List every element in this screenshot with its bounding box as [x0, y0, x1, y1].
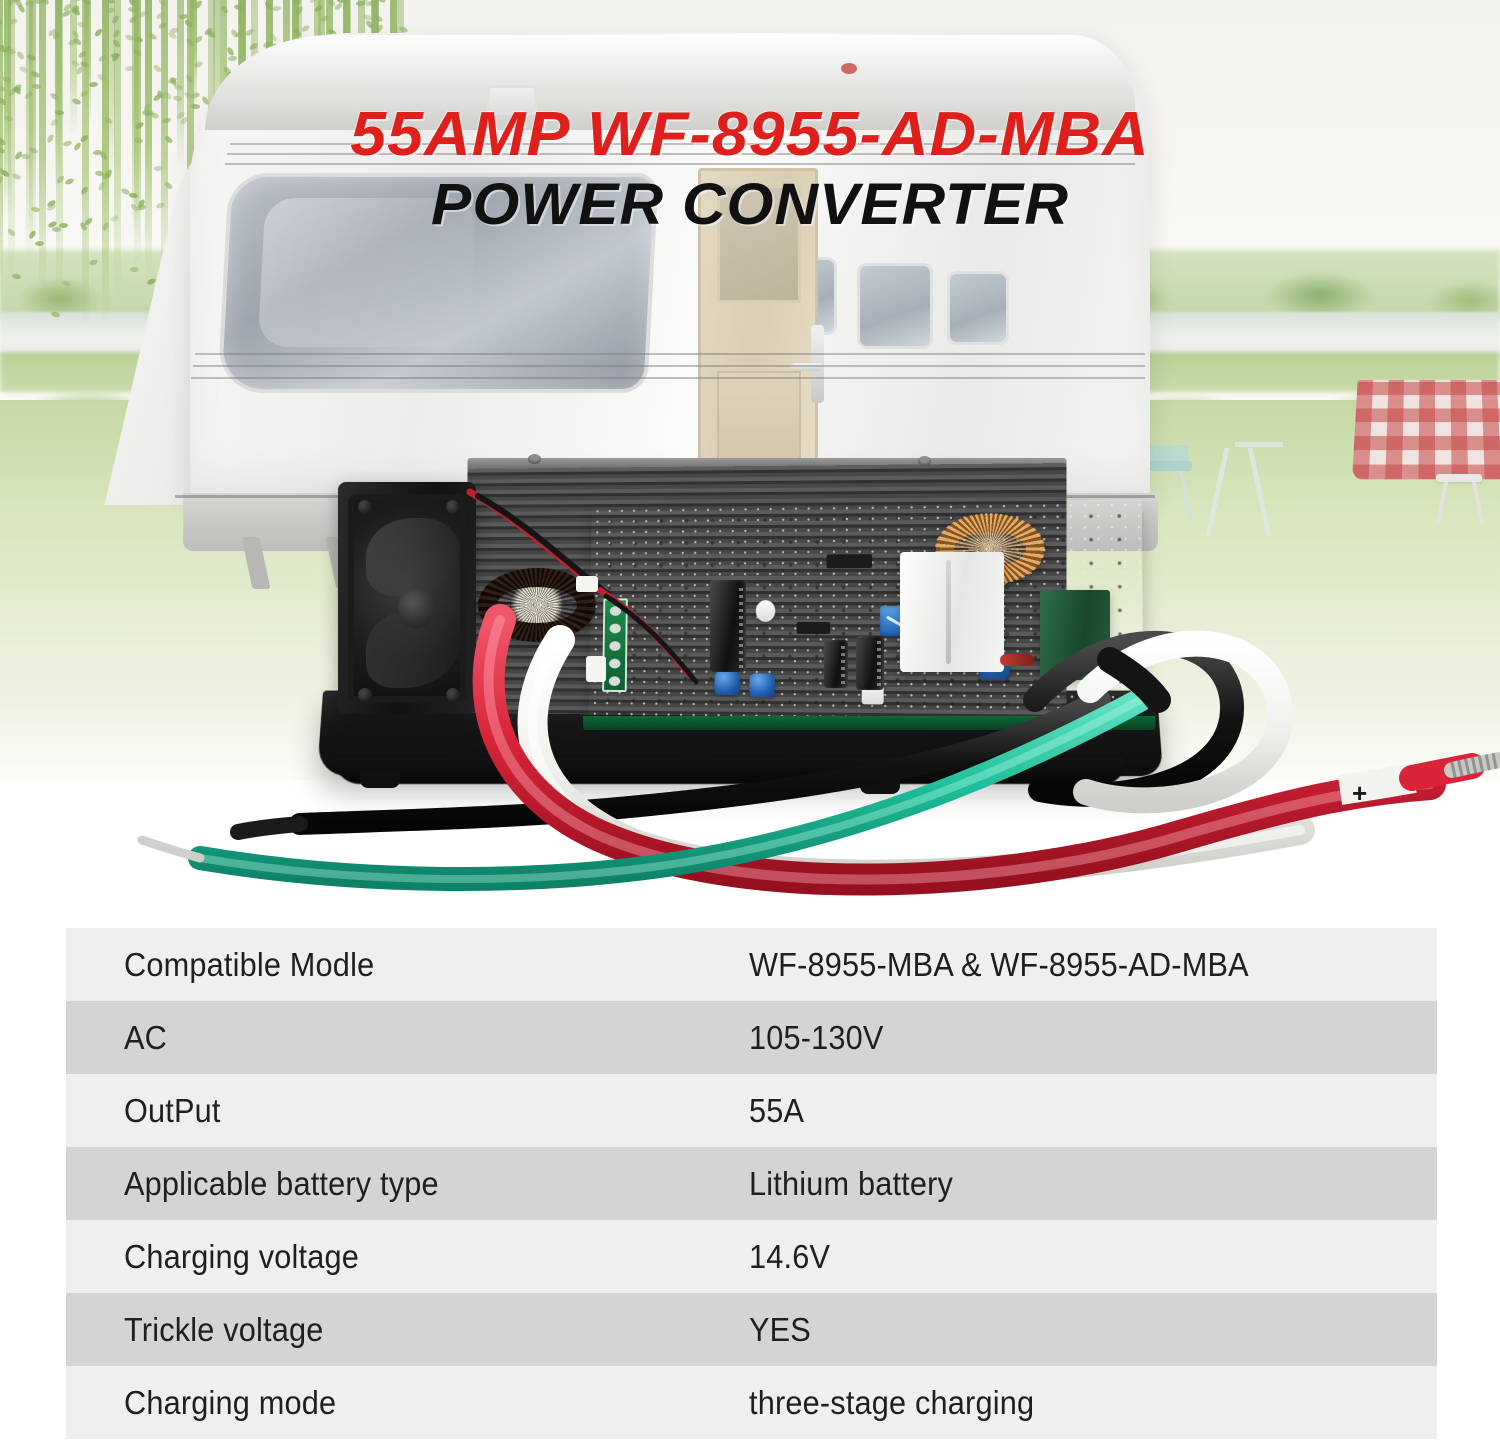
capacitor-seam: [946, 560, 951, 664]
blue-capacitor: [749, 673, 775, 697]
specification-table: Compatible Modle WF-8955-MBA & WF-8955-A…: [66, 928, 1437, 1439]
table-row: Compatible Modle WF-8955-MBA & WF-8955-A…: [66, 928, 1437, 1001]
willow-leaf: [88, 259, 98, 267]
white-standoff: [756, 600, 776, 622]
film-capacitor: [900, 552, 1004, 672]
pin-header: [602, 598, 628, 692]
inductor-winding: [478, 568, 596, 642]
spec-key: Applicable battery type: [124, 1165, 705, 1203]
spec-key: Trickle voltage: [124, 1311, 705, 1349]
body-trim-line: [191, 377, 1145, 379]
table-row: Charging voltage 14.6V: [66, 1220, 1437, 1293]
header-pad: [609, 641, 620, 651]
capacitor-stripe: [841, 644, 845, 684]
fan-screw: [358, 500, 372, 514]
body-trim-line: [193, 365, 1145, 367]
ic-chip: [797, 622, 831, 634]
fan-screw: [358, 688, 372, 702]
header-pad: [610, 606, 621, 616]
spec-key: AC: [124, 1019, 705, 1057]
marker-light: [841, 63, 857, 74]
chassis-lip: [334, 758, 1124, 784]
blue-capacitor: [1116, 650, 1144, 676]
checkered-tablecloth: [1352, 380, 1500, 479]
red-resistor: [1000, 654, 1034, 666]
spec-key: OutPut: [124, 1092, 705, 1130]
electrolytic-capacitor: [856, 636, 884, 690]
fan-blade: [366, 518, 460, 596]
chair-seat: [1436, 474, 1482, 482]
blue-capacitor: [714, 671, 739, 695]
product-title-line2: POWER CONVERTER: [0, 176, 1500, 234]
fan-screw: [446, 500, 460, 514]
chassis-foot: [360, 770, 400, 788]
table-row: Charging mode three-stage charging: [66, 1366, 1437, 1439]
stand-top: [1235, 442, 1283, 447]
header-pad: [610, 624, 621, 634]
willow-leaf: [272, 5, 282, 11]
side-window: [947, 271, 1009, 345]
willow-leaf: [61, 279, 71, 287]
cooling-fan: [338, 482, 476, 714]
pcb-edge: [583, 716, 1155, 730]
mounting-screw: [528, 454, 541, 464]
picnic-table: [1355, 378, 1500, 508]
hero-scene: 55AMP WF-8955-AD-MBA POWER CONVERTER: [0, 0, 1500, 930]
toroidal-inductor: [478, 568, 596, 642]
electrolytic-capacitor: [824, 640, 848, 688]
fan-housing: [348, 494, 466, 702]
spec-value: Lithium battery: [749, 1165, 953, 1203]
table-row: Applicable battery type Lithium battery: [66, 1147, 1437, 1220]
header-pad: [609, 676, 620, 686]
capacitor-stripe: [877, 640, 881, 686]
title-block: 55AMP WF-8955-AD-MBA POWER CONVERTER: [0, 104, 1500, 234]
willow-leaf: [89, 82, 98, 88]
header-pad: [609, 659, 620, 669]
electrolytic-capacitor: [710, 580, 746, 672]
power-converter-unit: [300, 440, 1240, 910]
table-row: OutPut 55A: [66, 1074, 1437, 1147]
table-row: Trickle voltage YES: [66, 1293, 1437, 1366]
fan-screw: [446, 688, 460, 702]
spec-value: 105-130V: [749, 1019, 884, 1057]
capacitor-stripe: [739, 584, 743, 668]
mounting-screw: [918, 456, 931, 466]
ic-chip: [827, 554, 873, 568]
spec-value: WF-8955-MBA & WF-8955-AD-MBA: [749, 946, 1249, 984]
product-title-line1: 55AMP WF-8955-AD-MBA: [0, 104, 1500, 166]
spec-value: 14.6V: [749, 1238, 830, 1276]
spec-value: three-stage charging: [749, 1384, 1034, 1422]
table-row: AC 105-130V: [66, 1001, 1437, 1074]
stand-leg: [1248, 448, 1272, 536]
body-trim-line: [195, 353, 1145, 355]
green-transformer-block: [1040, 590, 1110, 680]
spec-value: YES: [749, 1311, 811, 1349]
spec-key: Charging mode: [124, 1384, 705, 1422]
spec-value: 55A: [749, 1092, 804, 1130]
spec-key: Charging voltage: [124, 1238, 705, 1276]
chassis-foot: [860, 776, 900, 794]
spec-key: Compatible Modle: [124, 946, 705, 984]
willow-leaf: [16, 50, 26, 60]
fan-hub: [398, 588, 434, 628]
product-marketing-image: 55AMP WF-8955-AD-MBA POWER CONVERTER: [0, 0, 1500, 1444]
side-window: [857, 263, 933, 349]
